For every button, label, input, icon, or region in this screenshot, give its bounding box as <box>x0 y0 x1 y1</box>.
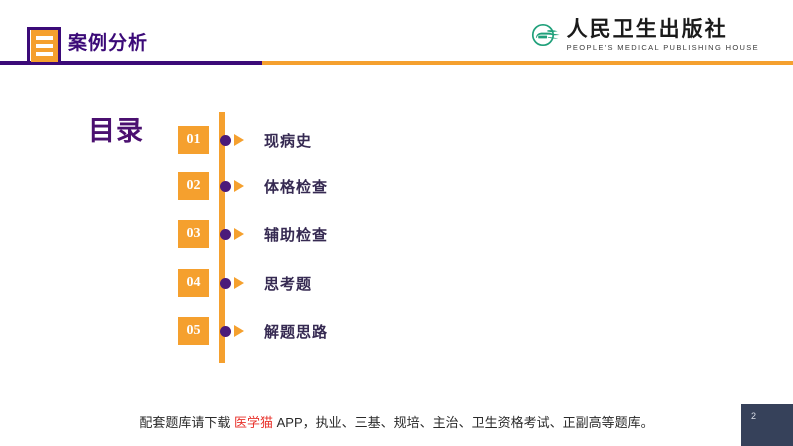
hamburger-icon <box>31 30 58 62</box>
triangle-marker-icon <box>234 277 244 289</box>
triangle-marker-icon <box>234 325 244 337</box>
list-item[interactable]: 04 思考题 <box>178 268 312 298</box>
list-item[interactable]: 03 辅助检查 <box>178 219 328 249</box>
list-item-label: 体格检查 <box>264 176 328 197</box>
list-item[interactable]: 05 解题思路 <box>178 316 328 346</box>
list-item[interactable]: 02 体格检查 <box>178 171 328 201</box>
list-item-label: 辅助检查 <box>264 224 328 245</box>
page-number: 2 <box>751 411 756 421</box>
timeline-dot-icon <box>220 278 231 289</box>
list-item-number: 02 <box>178 172 209 200</box>
header-divider-orange <box>262 61 793 65</box>
timeline-dot-icon <box>220 229 231 240</box>
timeline-dot-icon <box>220 181 231 192</box>
list-item-number: 03 <box>178 220 209 248</box>
page-title: 案例分析 <box>68 31 148 57</box>
contents-title: 目录 <box>88 109 144 148</box>
footer-note: 配套题库请下载 医学猫 APP，执业、三基、规培、主治、卫生资格考试、正副高等题… <box>0 412 793 431</box>
list-item-number: 01 <box>178 126 209 154</box>
timeline-dot-icon <box>220 326 231 337</box>
footer-text-after: APP，执业、三基、规培、主治、卫生资格考试、正副高等题库。 <box>273 415 654 430</box>
hamburger-line-2 <box>36 44 53 48</box>
list-item-number: 05 <box>178 317 209 345</box>
list-item-number: 04 <box>178 269 209 297</box>
publisher-name-en: PEOPLE'S MEDICAL PUBLISHING HOUSE <box>567 44 759 52</box>
slide-header: 案例分析 人民卫生出版社 PEOPLE'S MEDICAL PUBLISHING… <box>0 0 793 70</box>
footer-app-name: 医学猫 <box>234 415 273 430</box>
publisher-logo: 人民卫生出版社 PEOPLE'S MEDICAL PUBLISHING HOUS… <box>527 18 759 52</box>
triangle-marker-icon <box>234 228 244 240</box>
list-item-label: 思考题 <box>264 273 312 294</box>
footer-text-before: 配套题库请下载 <box>139 415 234 430</box>
list-item-label: 现病史 <box>264 130 312 151</box>
pmph-emblem-icon <box>527 18 561 52</box>
publisher-name-cn: 人民卫生出版社 <box>567 19 728 40</box>
triangle-marker-icon <box>234 180 244 192</box>
hamburger-line-1 <box>36 36 53 40</box>
hamburger-line-3 <box>36 52 53 56</box>
page-number-badge: 2 <box>741 404 793 446</box>
list-item-label: 解题思路 <box>264 321 328 342</box>
publisher-logo-text: 人民卫生出版社 PEOPLE'S MEDICAL PUBLISHING HOUS… <box>567 19 759 52</box>
timeline-dot-icon <box>220 135 231 146</box>
list-item[interactable]: 01 现病史 <box>178 125 312 155</box>
triangle-marker-icon <box>234 134 244 146</box>
